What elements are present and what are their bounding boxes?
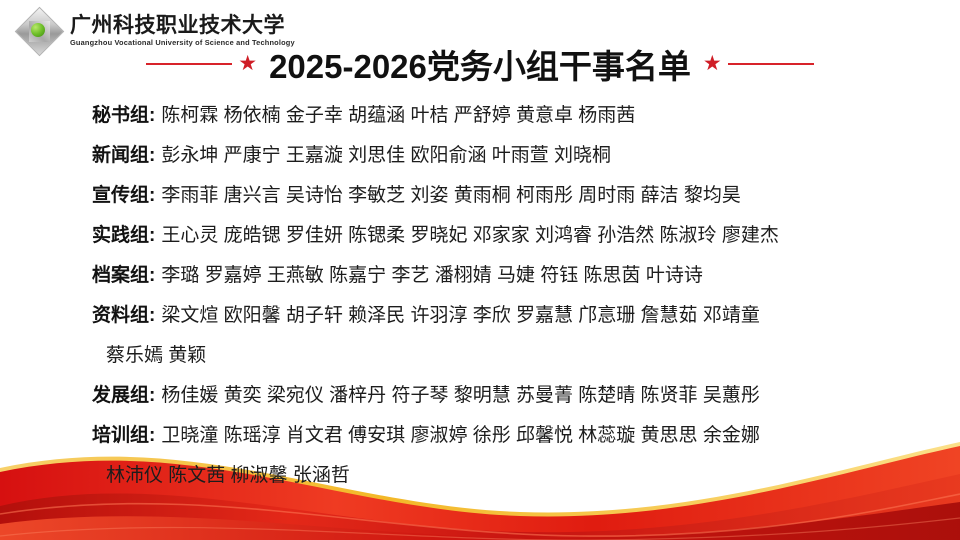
university-name-en: Guangzhou Vocational University of Scien…: [70, 39, 295, 46]
roster-row: 实践组:王心灵 庞皓锶 罗佳妍 陈锶柔 罗晓妃 邓家家 刘鸿睿 孙浩然 陈淑玲 …: [92, 216, 882, 256]
roster-row-continuation: 林沛仪 陈文茜 柳淑馨 张涵哲: [92, 456, 882, 496]
roster-row: 培训组:卫晓潼 陈瑶淳 肖文君 傅安琪 廖淑婷 徐彤 邱馨悦 林蕊璇 黄思思 余…: [92, 416, 882, 456]
roster-group-label: 资料组:: [92, 305, 155, 326]
roster-row: 资料组:梁文煊 欧阳馨 胡子轩 赖泽民 许羽淳 李欣 罗嘉慧 邝悥珊 詹慧茹 邓…: [92, 296, 882, 336]
star-right-icon: ★: [703, 53, 722, 74]
roster-group-names: 梁文煊 欧阳馨 胡子轩 赖泽民 许羽淳 李欣 罗嘉慧 邝悥珊 詹慧茹 邓靖童: [161, 305, 760, 326]
roster-group-names: 王心灵 庞皓锶 罗佳妍 陈锶柔 罗晓妃 邓家家 刘鸿睿 孙浩然 陈淑玲 廖建杰: [161, 225, 779, 246]
roster-row: 秘书组:陈柯霖 杨依楠 金子幸 胡蕴涵 叶桔 严舒婷 黄意卓 杨雨茜: [92, 96, 882, 136]
title-rule-left: [146, 63, 232, 65]
roster-group-names: 杨佳媛 黄奕 梁宛仪 潘梓丹 符子琴 黎明慧 苏曼菁 陈楚晴 陈贤菲 吴蕙彤: [161, 385, 760, 406]
page-title: 2025-2026党务小组干事名单: [269, 40, 691, 88]
roster-row: 发展组:杨佳媛 黄奕 梁宛仪 潘梓丹 符子琴 黎明慧 苏曼菁 陈楚晴 陈贤菲 吴…: [92, 376, 882, 416]
roster-group-names: 李雨菲 唐兴言 吴诗怡 李敏芝 刘姿 黄雨桐 柯雨彤 周时雨 薛洁 黎均昊: [161, 185, 741, 206]
roster-group-label: 新闻组:: [92, 145, 155, 166]
roster-group-label: 培训组:: [92, 425, 155, 446]
university-name-cn: 广州科技职业技术大学: [70, 15, 295, 36]
roster-group-label: 宣传组:: [92, 185, 155, 206]
roster-row-continuation: 蔡乐嫣 黄颖: [92, 336, 882, 376]
roster-list: 秘书组:陈柯霖 杨依楠 金子幸 胡蕴涵 叶桔 严舒婷 黄意卓 杨雨茜新闻组:彭永…: [92, 96, 882, 496]
roster-row: 新闻组:彭永坤 严康宁 王嘉漩 刘思佳 欧阳俞涵 叶雨萱 刘晓桐: [92, 136, 882, 176]
roster-row: 档案组:李璐 罗嘉婷 王燕敏 陈嘉宁 李艺 潘栩婧 马婕 符钰 陈思茵 叶诗诗: [92, 256, 882, 296]
roster-group-label: 发展组:: [92, 385, 155, 406]
roster-group-names: 彭永坤 严康宁 王嘉漩 刘思佳 欧阳俞涵 叶雨萱 刘晓桐: [161, 145, 611, 166]
university-diamond-logo-icon: [14, 6, 62, 54]
university-logo: 广州科技职业技术大学 Guangzhou Vocational Universi…: [14, 6, 295, 54]
roster-group-label: 实践组:: [92, 225, 155, 246]
roster-group-names: 李璐 罗嘉婷 王燕敏 陈嘉宁 李艺 潘栩婧 马婕 符钰 陈思茵 叶诗诗: [161, 265, 703, 286]
roster-group-label: 秘书组:: [92, 105, 155, 126]
roster-group-label: 档案组:: [92, 265, 155, 286]
star-left-icon: ★: [238, 53, 257, 74]
roster-group-names: 卫晓潼 陈瑶淳 肖文君 傅安琪 廖淑婷 徐彤 邱馨悦 林蕊璇 黄思思 余金娜: [161, 425, 760, 446]
roster-group-names: 陈柯霖 杨依楠 金子幸 胡蕴涵 叶桔 严舒婷 黄意卓 杨雨茜: [161, 105, 635, 126]
logo-green-dot-icon: [31, 23, 45, 37]
university-name-block: 广州科技职业技术大学 Guangzhou Vocational Universi…: [70, 13, 295, 46]
slide-canvas: 广州科技职业技术大学 Guangzhou Vocational Universi…: [0, 0, 960, 540]
title-rule-right: [728, 63, 814, 65]
roster-row: 宣传组:李雨菲 唐兴言 吴诗怡 李敏芝 刘姿 黄雨桐 柯雨彤 周时雨 薛洁 黎均…: [92, 176, 882, 216]
